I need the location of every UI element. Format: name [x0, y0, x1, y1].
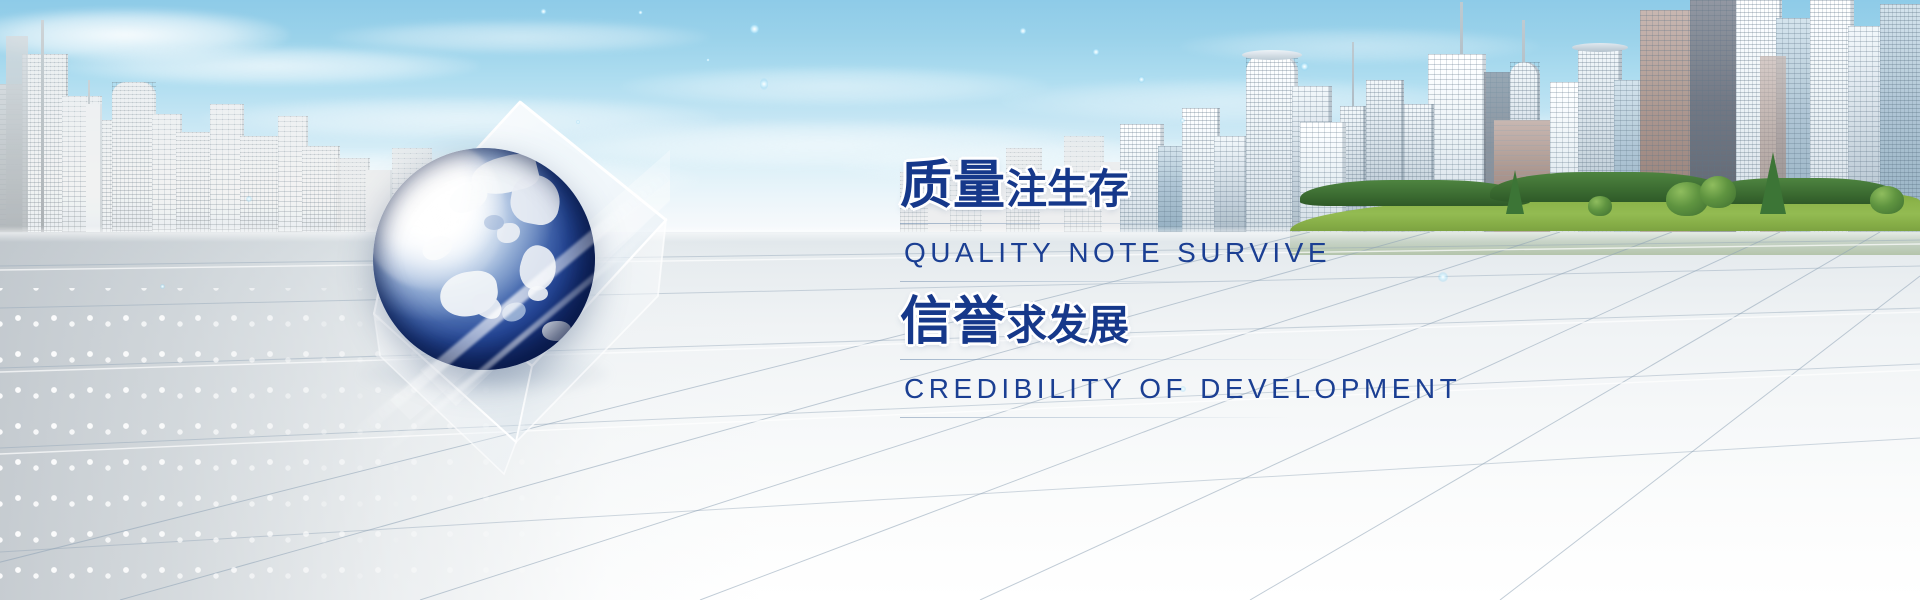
- sparkle: [540, 8, 547, 15]
- slogan-quality-cn-rest: 注生存: [1006, 166, 1129, 212]
- sparkle: [1092, 48, 1100, 56]
- slogan-credibility-cn-rest: 求发展: [1006, 302, 1129, 348]
- sparkle: [246, 196, 252, 202]
- tower-crown: [1242, 50, 1302, 60]
- slogan-quality-en-word: NOTE: [1068, 237, 1164, 268]
- sparkle: [576, 120, 580, 124]
- conifer-tree: [1760, 152, 1786, 214]
- slogan-credibility: 信誉求发展 CREDIBILITYOFDEVELOPMENT: [900, 296, 1461, 418]
- sparkle: [1138, 76, 1145, 83]
- slogan-credibility-rule-top: [900, 359, 1340, 360]
- sparkle: [750, 22, 759, 36]
- slogan-credibility-en-word: CREDIBILITY: [904, 373, 1126, 404]
- slogan-quality-rule-top: [900, 223, 1320, 224]
- slogan-credibility-en-word: OF: [1139, 373, 1187, 404]
- conifer-tree: [1506, 170, 1524, 214]
- sparkle: [1438, 272, 1448, 282]
- sparkle: [706, 58, 710, 62]
- slogan-credibility-rule-bottom: [900, 417, 1290, 418]
- slogan-credibility-en-word: DEVELOPMENT: [1200, 373, 1461, 404]
- slogan-quality-cn-emphasis: 质量: [900, 157, 1006, 215]
- slogan-quality: 质量注生存 QUALITYNOTESURVIVE: [900, 160, 1331, 282]
- round-tree: [1870, 186, 1904, 214]
- slogan-credibility-cn-emphasis: 信誉: [900, 293, 1006, 351]
- slogan-credibility-en: CREDIBILITYOFDEVELOPMENT: [904, 375, 1461, 403]
- sparkle: [638, 10, 643, 15]
- slogan-credibility-cn: 信誉求发展: [900, 296, 1461, 348]
- sparkle: [760, 78, 768, 90]
- slogan-quality-cn: 质量注生存: [900, 160, 1331, 212]
- slogan-quality-rule-bottom: [900, 281, 1260, 282]
- slogan-quality-en-word: QUALITY: [904, 237, 1055, 268]
- sparkle: [1020, 26, 1026, 36]
- round-tree: [1700, 176, 1736, 208]
- tower-crown: [1572, 43, 1628, 52]
- round-tree: [1588, 196, 1612, 216]
- sparkle: [1300, 62, 1309, 71]
- sparkle: [1180, 118, 1185, 123]
- slogan-quality-en: QUALITYNOTESURVIVE: [904, 239, 1331, 267]
- slogan-quality-en-word: SURVIVE: [1177, 237, 1331, 268]
- sparkle: [160, 284, 165, 289]
- banner-hero: 质量注生存 QUALITYNOTESURVIVE 信誉求发展 CREDIBILI…: [0, 0, 1920, 600]
